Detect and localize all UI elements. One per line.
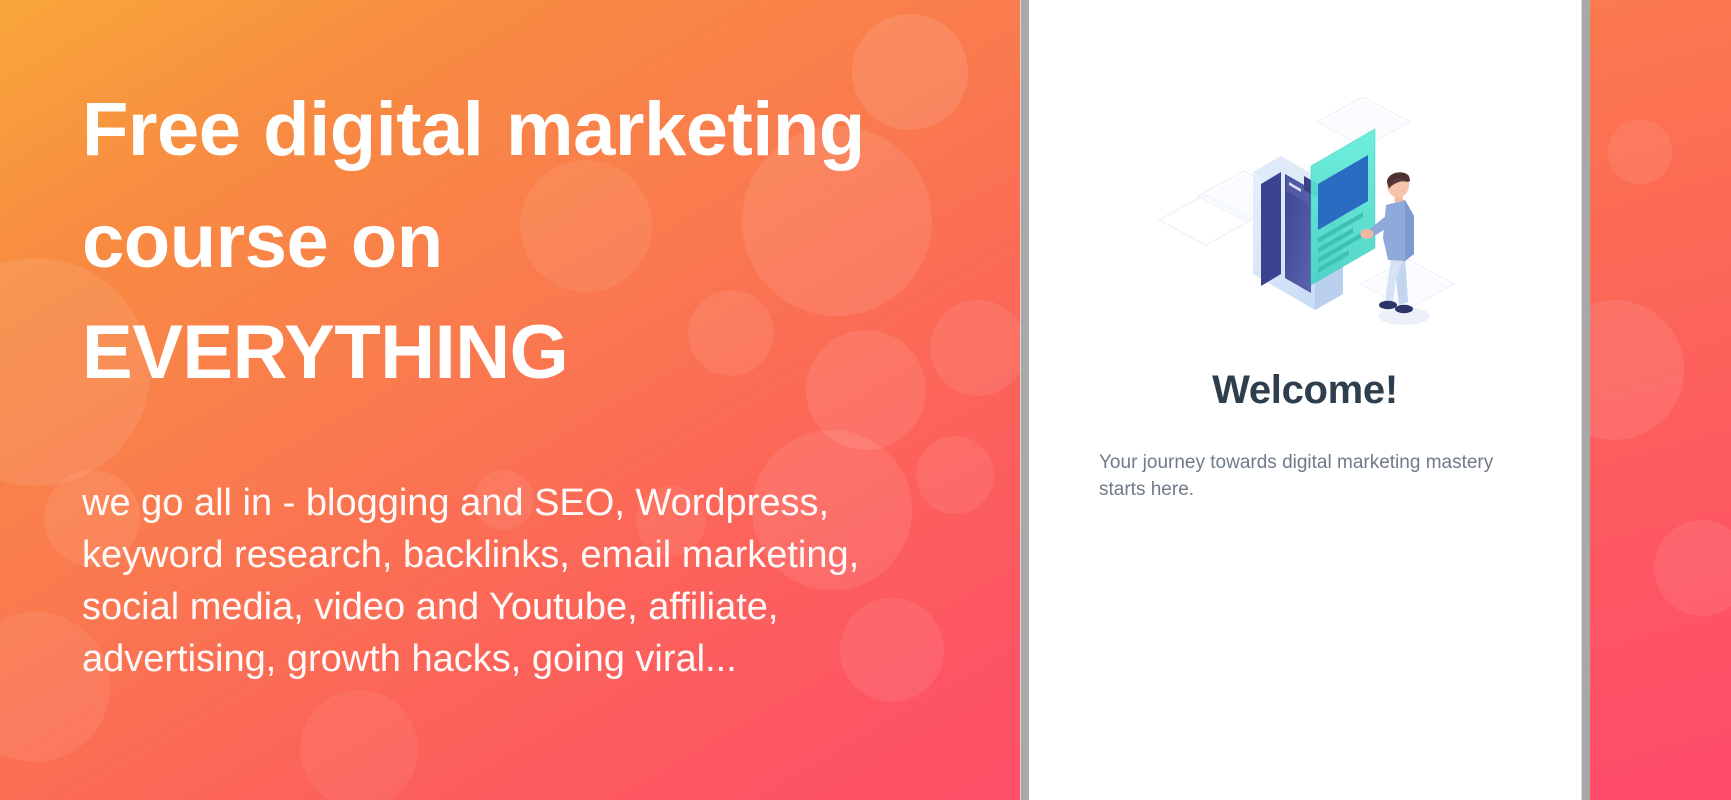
decor-circle bbox=[1590, 300, 1684, 440]
right-accent-panel bbox=[1590, 0, 1731, 800]
isometric-person-using-mobile-app-icon bbox=[1105, 88, 1505, 358]
panel-divider-left bbox=[1020, 0, 1029, 800]
decor-circle bbox=[1654, 520, 1731, 616]
welcome-title: Welcome! bbox=[1212, 368, 1398, 413]
welcome-subtitle: Your journey towards digital marketing m… bbox=[1085, 450, 1525, 504]
hero-panel: Free digital marketing course on EVERYTH… bbox=[0, 0, 1020, 800]
panel-divider-right bbox=[1581, 0, 1590, 800]
decor-circle bbox=[1608, 120, 1672, 184]
welcome-panel: Welcome! Your journey towards digital ma… bbox=[1029, 0, 1581, 800]
hero-content: Free digital marketing course on EVERYTH… bbox=[0, 0, 1020, 800]
hero-description: we go all in - blogging and SEO, Wordpre… bbox=[82, 477, 930, 685]
page-title: Free digital marketing course on EVERYTH… bbox=[82, 74, 912, 409]
